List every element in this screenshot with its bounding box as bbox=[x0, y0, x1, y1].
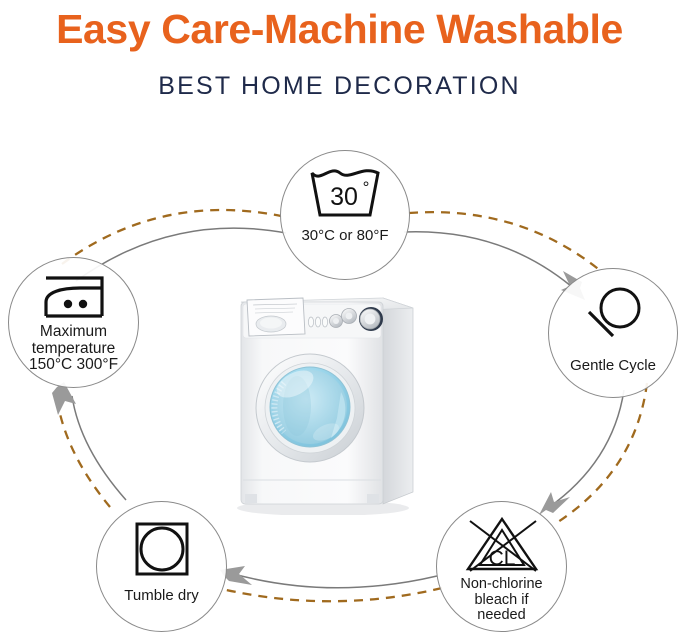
care-symbol-tumble-caption: Tumble dry bbox=[124, 588, 198, 604]
page-subtitle: BEST HOME DECORATION bbox=[0, 72, 679, 101]
infographic-canvas: Easy Care-Machine Washable BEST HOME DEC… bbox=[0, 0, 679, 632]
page-title: Easy Care-Machine Washable bbox=[0, 6, 679, 53]
arc-wash-to-gentle-solid bbox=[404, 232, 578, 292]
caption-line: temperature bbox=[29, 341, 118, 358]
care-symbol-bleach-caption: Non-chlorine bleach if needed bbox=[460, 577, 542, 624]
non-chlorine-bleach-crossed-triangle-icon: CL bbox=[460, 515, 544, 575]
arc-iron-to-wash-dashed bbox=[62, 210, 281, 264]
washing-machine-illustration bbox=[231, 280, 427, 515]
caption-line: 30°C or 80°F bbox=[301, 228, 388, 244]
care-symbol-gentle-cycle[interactable]: Gentle Cycle bbox=[548, 268, 678, 398]
machine-indicator-lights bbox=[308, 317, 327, 327]
caption-line: Gentle Cycle bbox=[570, 358, 656, 374]
care-symbol-gentle-caption: Gentle Cycle bbox=[570, 358, 656, 374]
wash-tub-30-icon: 30 ° bbox=[308, 167, 382, 219]
gentle-cycle-circle-icon bbox=[577, 286, 649, 344]
detergent-drawer bbox=[247, 298, 305, 336]
arc-gentle-to-bleach-solid bbox=[548, 390, 624, 508]
care-symbol-non-chlorine-bleach[interactable]: CL Non-chlorine bleach if needed bbox=[436, 501, 567, 632]
arc-gentle-to-bleach-dashed bbox=[558, 383, 647, 522]
care-symbol-wash-30[interactable]: 30 ° 30°C or 80°F bbox=[280, 150, 410, 280]
arc-bleach-to-tumble-solid bbox=[230, 573, 437, 588]
machine-door bbox=[256, 354, 364, 462]
svg-text:CL: CL bbox=[488, 547, 515, 570]
svg-text:30: 30 bbox=[330, 183, 358, 211]
caption-line: Non-chlorine bbox=[460, 577, 542, 593]
machine-side-panel bbox=[383, 298, 413, 504]
arc-tumble-to-iron-solid bbox=[72, 396, 126, 500]
caption-line: needed bbox=[460, 608, 542, 624]
care-symbol-wash-caption: 30°C or 80°F bbox=[301, 228, 388, 244]
iron-two-dots-icon bbox=[36, 274, 112, 320]
care-symbol-iron-max-temperature[interactable]: Maximum temperature 150°C 300°F bbox=[8, 257, 139, 388]
machine-main-dial bbox=[359, 307, 383, 331]
care-symbol-tumble-dry[interactable]: Tumble dry bbox=[96, 501, 227, 632]
arc-wash-to-gentle-dashed bbox=[409, 212, 602, 272]
arrowhead-gentle-to-bleach bbox=[539, 492, 570, 515]
caption-line: Tumble dry bbox=[124, 588, 198, 604]
svg-text:°: ° bbox=[363, 178, 370, 197]
arc-bleach-to-tumble-dashed bbox=[222, 588, 442, 601]
arc-tumble-to-iron-dashed bbox=[56, 391, 110, 507]
caption-line: Maximum bbox=[29, 324, 118, 341]
caption-line: bleach if bbox=[460, 593, 542, 609]
tumble-dry-square-circle-icon bbox=[133, 520, 191, 578]
caption-line: 150°C 300°F bbox=[29, 357, 118, 374]
care-symbol-iron-caption: Maximum temperature 150°C 300°F bbox=[29, 324, 118, 374]
